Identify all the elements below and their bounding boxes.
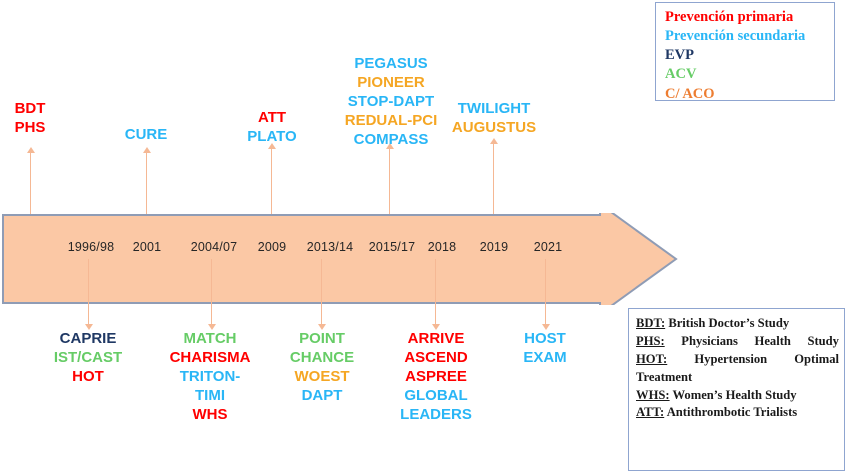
year-label: 2009 xyxy=(258,240,287,254)
connector-line-arrive-group xyxy=(435,259,436,325)
trial-label: CAPRIE xyxy=(54,330,122,349)
trial-label: LEADERS xyxy=(400,406,472,425)
trial-label: EXAM xyxy=(523,349,566,368)
trial-label: ATT xyxy=(247,109,296,128)
year-label: 2004/07 xyxy=(191,240,238,254)
trial-cluster-pegasus-group: PEGASUSPIONEERSTOP-DAPTREDUAL-PCICOMPASS xyxy=(345,55,438,149)
abbreviation-text: Physicians Health Study xyxy=(681,334,839,348)
abbreviation-key: BDT: xyxy=(636,316,665,330)
trial-cluster-point-group: POINTCHANCEWOESTDAPT xyxy=(290,330,354,406)
connector-line-match-group xyxy=(211,259,212,325)
connector-line-point-group xyxy=(321,259,322,325)
connector-line-att-plato xyxy=(271,148,272,214)
year-label: 2021 xyxy=(534,240,563,254)
trial-label: COMPASS xyxy=(345,131,438,150)
trial-label: PIONEER xyxy=(345,74,438,93)
trial-label: POINT xyxy=(290,330,354,349)
abbreviation-key: WHS: xyxy=(636,388,670,402)
abbreviation-key: ATT: xyxy=(636,405,664,419)
abbreviation-legend: BDT: British Doctor’s StudyPHS: Physicia… xyxy=(628,308,845,471)
trial-label: TWILIGHT xyxy=(452,100,536,119)
trial-label: WOEST xyxy=(290,368,354,387)
year-labels: 1996/9820012004/0720092013/142015/172018… xyxy=(0,213,680,259)
connector-line-pegasus-group xyxy=(389,148,390,214)
connector-line-host-exam xyxy=(545,259,546,325)
year-label: 2015/17 xyxy=(369,240,416,254)
abbreviation-key: PHS: xyxy=(636,334,665,348)
trial-cluster-cure: CURE xyxy=(125,126,168,145)
trial-cluster-host-exam: HOSTEXAM xyxy=(523,330,566,368)
abbreviation-row: PHS: Physicians Health Study xyxy=(636,333,839,351)
trial-label: STOP-DAPT xyxy=(345,93,438,112)
connector-line-caprie-group xyxy=(88,259,89,325)
abbreviation-row: BDT: British Doctor’s Study xyxy=(636,315,839,333)
year-label: 2001 xyxy=(133,240,162,254)
abbreviation-key: HOT: xyxy=(636,352,667,366)
connector-line-cure xyxy=(146,152,147,214)
abbreviation-text: British Doctor’s Study xyxy=(668,316,789,330)
abbreviation-text: Antithrombotic Trialists xyxy=(667,405,798,419)
trial-cluster-bdt-phs: BDTPHS xyxy=(15,100,46,138)
timeline-diagram: 1996/9820012004/0720092013/142015/172018… xyxy=(0,0,850,471)
connector-arrowhead-icon xyxy=(143,147,151,153)
trial-label: BDT xyxy=(15,100,46,119)
connector-line-bdt-phs xyxy=(30,152,31,214)
trial-label: PEGASUS xyxy=(345,55,438,74)
connector-arrowhead-icon xyxy=(490,138,498,144)
trial-label: PHS xyxy=(15,119,46,138)
trial-cluster-match-group: MATCHCHARISMATRITON-TIMIWHS xyxy=(170,330,251,424)
color-key-row: Prevención primaria xyxy=(665,8,834,27)
trial-label: ARRIVE xyxy=(400,330,472,349)
trial-label: DAPT xyxy=(290,387,354,406)
trial-label: PLATO xyxy=(247,128,296,147)
abbreviation-row: ATT: Antithrombotic Trialists xyxy=(636,404,839,422)
trial-cluster-att-plato: ATTPLATO xyxy=(247,109,296,147)
year-label: 2019 xyxy=(480,240,509,254)
trial-label: REDUAL-PCI xyxy=(345,112,438,131)
trial-cluster-caprie-group: CAPRIEIST/CASTHOT xyxy=(54,330,122,387)
trial-label: AUGUSTUS xyxy=(452,119,536,138)
trial-label: CHARISMA xyxy=(170,349,251,368)
abbreviation-text: Women’s Health Study xyxy=(673,388,797,402)
trial-label: ASCEND xyxy=(400,349,472,368)
trial-label: HOT xyxy=(54,368,122,387)
trial-label: MATCH xyxy=(170,330,251,349)
abbreviation-text: Hypertension Optimal Treatment xyxy=(636,352,839,384)
trial-label: TRITON- xyxy=(170,368,251,387)
abbreviation-row: WHS: Women’s Health Study xyxy=(636,387,839,405)
color-key-row: Prevención secundaria xyxy=(665,27,834,46)
trial-label: WHS xyxy=(170,406,251,425)
trial-label: TIMI xyxy=(170,387,251,406)
trial-label: CHANCE xyxy=(290,349,354,368)
trial-label: GLOBAL xyxy=(400,387,472,406)
year-label: 2018 xyxy=(428,240,457,254)
trial-label: CURE xyxy=(125,126,168,145)
color-key-row: EVP xyxy=(665,46,834,65)
color-key-row: C/ ACO xyxy=(665,85,834,104)
year-label: 1996/98 xyxy=(68,240,115,254)
trial-label: HOST xyxy=(523,330,566,349)
connector-line-twilight-augustus xyxy=(493,143,494,214)
trial-cluster-arrive-group: ARRIVEASCENDASPREEGLOBALLEADERS xyxy=(400,330,472,424)
year-label: 2013/14 xyxy=(307,240,354,254)
trial-label: ASPREE xyxy=(400,368,472,387)
trial-label: IST/CAST xyxy=(54,349,122,368)
color-key-row: ACV xyxy=(665,65,834,84)
prevention-color-key: Prevención primariaPrevención secundaria… xyxy=(655,2,835,101)
connector-arrowhead-icon xyxy=(27,147,35,153)
abbreviation-row: HOT: Hypertension Optimal Treatment xyxy=(636,351,839,387)
trial-cluster-twilight-augustus: TWILIGHTAUGUSTUS xyxy=(452,100,536,138)
